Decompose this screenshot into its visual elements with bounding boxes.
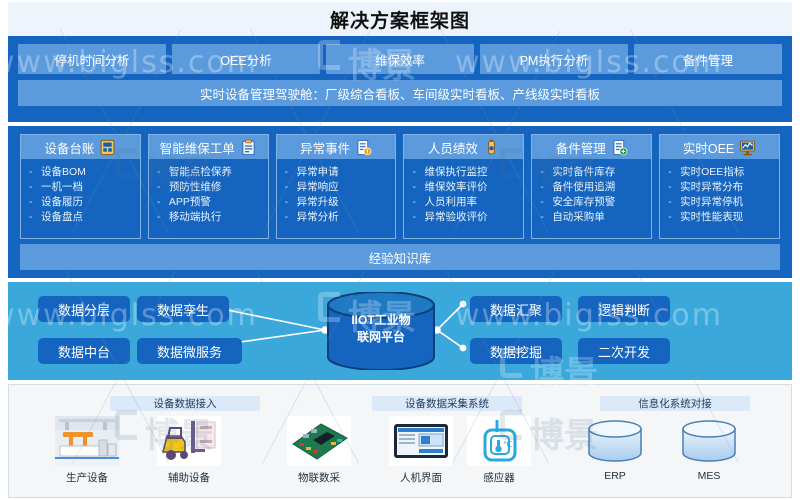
data-capability-button[interactable]: 二次开发	[578, 338, 670, 364]
bullet-dash-icon: -	[412, 180, 424, 194]
module-feature-label: 异常响应	[297, 180, 339, 194]
module-feature-label: 备件使用追溯	[552, 180, 615, 194]
hardware-item[interactable]: 生产设备	[50, 416, 124, 485]
database-cylinder-icon	[677, 416, 741, 466]
module-feature-label: 设备履历	[41, 195, 83, 209]
module-feature-item[interactable]: -设备履历	[29, 195, 136, 209]
bullet-dash-icon: -	[157, 210, 169, 224]
module-feature-item[interactable]: -异常升级	[285, 195, 392, 209]
module-feature-label: 实时备件库存	[552, 165, 615, 179]
module-feature-label: 实时OEE指标	[680, 165, 744, 179]
oil-can-icon	[483, 139, 500, 156]
analytics-nav-button[interactable]: 停机时间分析	[18, 44, 166, 74]
module-feature-item[interactable]: -预防性维修	[157, 180, 264, 194]
bullet-dash-icon: -	[540, 180, 552, 194]
module-feature-list: -异常申请-异常响应-异常升级-异常分析	[277, 159, 396, 238]
bullet-dash-icon: -	[540, 165, 552, 179]
module-feature-label: 维保执行监控	[424, 165, 487, 179]
knowledge-base-bar[interactable]: 经验知识库	[20, 244, 780, 270]
module-feature-list: -实时OEE指标-实时异常分布-实时异常停机-实时性能表现	[660, 159, 779, 238]
bullet-dash-icon: -	[285, 210, 297, 224]
hardware-group-label: 设备数据接入	[110, 396, 260, 411]
database-cylinder-icon	[583, 416, 647, 466]
equipment-ledger-icon	[99, 139, 116, 156]
module-feature-label: 异常申请	[297, 165, 339, 179]
hmi-panel-icon	[389, 416, 453, 466]
module-feature-label: 安全库存预警	[552, 195, 615, 209]
clipboard-icon	[240, 139, 257, 156]
module-card[interactable]: 人员绩效 -维保执行监控-维保效率评价-人员利用率-异常验收评价	[403, 134, 524, 239]
module-card-title: 实时OEE	[683, 138, 734, 157]
hardware-item[interactable]: ERP	[578, 416, 652, 482]
module-feature-item[interactable]: -APP预警	[157, 195, 264, 209]
bullet-dash-icon: -	[412, 165, 424, 179]
modules-band: 设备台账 -设备BOM-一机一档-设备履历-设备盘点智能维保工单 -智能点检保养…	[8, 126, 792, 278]
module-feature-list: -智能点检保养-预防性维修-APP预警-移动端执行	[149, 159, 268, 238]
module-feature-label: 自动采购单	[552, 210, 605, 224]
analytics-nav-button[interactable]: PM执行分析	[480, 44, 628, 74]
bullet-dash-icon: -	[157, 165, 169, 179]
circuit-board-icon	[287, 416, 351, 466]
hardware-item-caption: 生产设备	[66, 470, 108, 485]
module-feature-item[interactable]: -实时性能表现	[668, 210, 775, 224]
module-card[interactable]: 设备台账 -设备BOM-一机一档-设备履历-设备盘点	[20, 134, 141, 239]
module-feature-label: 异常升级	[297, 195, 339, 209]
parts-list-icon	[611, 139, 628, 156]
hardware-item[interactable]: 人机界面	[384, 416, 458, 485]
bullet-dash-icon: -	[540, 210, 552, 224]
module-feature-label: 维保效率评价	[424, 180, 487, 194]
module-feature-label: 智能点检保养	[169, 165, 232, 179]
iiot-platform-label-line2: 联网平台	[325, 329, 437, 346]
module-card-header: 人员绩效	[404, 135, 523, 159]
module-card-header: 设备台账	[21, 135, 140, 159]
module-feature-label: 异常分析	[297, 210, 339, 224]
module-card-title: 人员绩效	[428, 138, 478, 157]
module-feature-item[interactable]: -实时OEE指标	[668, 165, 775, 179]
data-capability-button[interactable]: 数据汇聚	[470, 296, 562, 322]
bullet-dash-icon: -	[285, 195, 297, 209]
data-capability-button[interactable]: 数据微服务	[137, 338, 242, 364]
bullet-dash-icon: -	[412, 195, 424, 209]
bullet-dash-icon: -	[540, 195, 552, 209]
clipboard-icon	[240, 139, 257, 156]
module-card-title: 异常事件	[300, 138, 350, 157]
oil-can-icon	[483, 139, 500, 156]
module-card-title: 设备台账	[44, 138, 94, 157]
bullet-dash-icon: -	[157, 195, 169, 209]
module-feature-list: -实时备件库存-备件使用追溯-安全库存预警-自动采购单	[532, 159, 651, 238]
iiot-platform-label-line1: IIOT工业物	[325, 312, 437, 329]
bullet-dash-icon: -	[668, 165, 680, 179]
hardware-item-caption: 辅助设备	[168, 470, 210, 485]
factory-line-photo-icon	[55, 416, 119, 466]
module-feature-item[interactable]: -备件使用追溯	[540, 180, 647, 194]
bullet-dash-icon: -	[29, 210, 41, 224]
circuit-board-icon	[287, 416, 351, 466]
parts-list-icon	[611, 139, 628, 156]
bullet-dash-icon: -	[285, 180, 297, 194]
iiot-platform-cylinder[interactable]: IIOT工业物 联网平台	[325, 292, 437, 370]
analytics-nav-button[interactable]: 备件管理	[634, 44, 782, 74]
monitor-chart-icon	[739, 139, 756, 156]
module-card-title: 智能维保工单	[160, 138, 235, 157]
module-feature-label: 实时异常停机	[680, 195, 743, 209]
database-cylinder-icon	[583, 416, 647, 466]
bullet-dash-icon: -	[29, 195, 41, 209]
page-title-bar: 解决方案框架图	[8, 2, 792, 36]
module-feature-item[interactable]: -维保效率评价	[412, 180, 519, 194]
bullet-dash-icon: -	[285, 165, 297, 179]
data-capability-button[interactable]: 数据中台	[38, 338, 130, 364]
hardware-item-caption: 感应器	[483, 470, 515, 485]
module-card-header: 实时OEE	[660, 135, 779, 159]
bullet-dash-icon: -	[29, 165, 41, 179]
hardware-item[interactable]: 物联数采	[282, 416, 356, 485]
database-cylinder-icon	[677, 416, 741, 466]
module-card[interactable]: 备件管理 -实时备件库存-备件使用追溯-安全库存预警-自动采购单	[531, 134, 652, 239]
module-card[interactable]: 智能维保工单 -智能点检保养-预防性维修-APP预警-移动端执行	[148, 134, 269, 239]
module-feature-label: 预防性维修	[169, 180, 222, 194]
module-card-header: 异常事件	[277, 135, 396, 159]
module-feature-item[interactable]: -实时备件库存	[540, 165, 647, 179]
forklift-icon	[157, 416, 221, 466]
bullet-dash-icon: -	[157, 180, 169, 194]
hardware-item[interactable]: ℃ 感应器	[462, 416, 536, 485]
data-capability-button[interactable]: 数据孪生	[137, 296, 229, 322]
hardware-group-label: 信息化系统对接	[600, 396, 750, 411]
factory-line-photo-icon	[55, 416, 119, 466]
module-feature-label: APP预警	[169, 195, 211, 209]
analytics-nav-button[interactable]: OEE分析	[172, 44, 320, 74]
module-feature-item[interactable]: -移动端执行	[157, 210, 264, 224]
module-feature-label: 异常验收评价	[424, 210, 487, 224]
temperature-sensor-icon: ℃	[467, 416, 531, 466]
module-feature-label: 设备盘点	[41, 210, 83, 224]
module-feature-item[interactable]: -异常申请	[285, 165, 392, 179]
module-card[interactable]: 异常事件 -异常申请-异常响应-异常升级-异常分析	[276, 134, 397, 239]
bullet-dash-icon: -	[412, 210, 424, 224]
module-card-header: 备件管理	[532, 135, 651, 159]
document-alert-icon	[355, 139, 372, 156]
analytics-band: 停机时间分析OEE分析维保效率PM执行分析备件管理 实时设备管理驾驶舱：厂级综合…	[8, 36, 792, 122]
hardware-item-caption: MES	[698, 470, 721, 482]
module-feature-label: 设备BOM	[41, 165, 86, 179]
module-feature-label: 移动端执行	[169, 210, 222, 224]
solution-framework-diagram: 解决方案框架图 停机时间分析OEE分析维保效率PM执行分析备件管理 实时设备管理…	[0, 0, 800, 500]
hardware-item[interactable]: 辅助设备	[152, 416, 226, 485]
cockpit-banner[interactable]: 实时设备管理驾驶舱：厂级综合看板、车间级实时看板、产线级实时看板	[18, 80, 782, 106]
data-capability-button[interactable]: 数据分层	[38, 296, 130, 322]
module-feature-item[interactable]: -自动采购单	[540, 210, 647, 224]
bullet-dash-icon: -	[668, 210, 680, 224]
hardware-item-caption: 人机界面	[400, 470, 442, 485]
module-feature-item[interactable]: -设备盘点	[29, 210, 136, 224]
hardware-item-caption: 物联数采	[298, 470, 340, 485]
temperature-sensor-icon: ℃	[467, 416, 531, 466]
hardware-item[interactable]: MES	[672, 416, 746, 482]
data-capability-button[interactable]: 逻辑判断	[578, 296, 670, 322]
module-feature-item[interactable]: -安全库存预警	[540, 195, 647, 209]
module-feature-item[interactable]: -人员利用率	[412, 195, 519, 209]
hardware-item-caption: ERP	[604, 470, 626, 482]
module-feature-item[interactable]: -实时异常分布	[668, 180, 775, 194]
iiot-platform-label: IIOT工业物 联网平台	[325, 312, 437, 346]
module-feature-label: 人员利用率	[424, 195, 477, 209]
bullet-dash-icon: -	[29, 180, 41, 194]
module-feature-item[interactable]: -实时异常停机	[668, 195, 775, 209]
module-card-title: 备件管理	[556, 138, 606, 157]
hmi-panel-icon	[389, 416, 453, 466]
module-feature-item[interactable]: -设备BOM	[29, 165, 136, 179]
module-feature-item[interactable]: -异常验收评价	[412, 210, 519, 224]
svg-text:℃: ℃	[503, 440, 512, 449]
module-feature-item[interactable]: -一机一档	[29, 180, 136, 194]
module-feature-item[interactable]: -维保执行监控	[412, 165, 519, 179]
module-feature-item[interactable]: -智能点检保养	[157, 165, 264, 179]
module-card-row: 设备台账 -设备BOM-一机一档-设备履历-设备盘点智能维保工单 -智能点检保养…	[20, 134, 780, 239]
forklift-icon	[157, 416, 221, 466]
monitor-chart-icon	[739, 139, 756, 156]
module-card-header: 智能维保工单	[149, 135, 268, 159]
module-feature-label: 实时异常分布	[680, 180, 743, 194]
module-feature-item[interactable]: -异常响应	[285, 180, 392, 194]
hardware-group-label: 设备数据采集系统	[372, 396, 522, 411]
module-feature-label: 一机一档	[41, 180, 83, 194]
module-feature-list: -设备BOM-一机一档-设备履历-设备盘点	[21, 159, 140, 238]
bullet-dash-icon: -	[668, 180, 680, 194]
module-card[interactable]: 实时OEE -实时OEE指标-实时异常分布-实时异常停机-实时性能表现	[659, 134, 780, 239]
module-feature-item[interactable]: -异常分析	[285, 210, 392, 224]
analytics-nav-button[interactable]: 维保效率	[326, 44, 474, 74]
bullet-dash-icon: -	[668, 195, 680, 209]
document-alert-icon	[355, 139, 372, 156]
analytics-nav-row: 停机时间分析OEE分析维保效率PM执行分析备件管理	[18, 44, 782, 74]
page-title: 解决方案框架图	[330, 6, 470, 33]
module-feature-label: 实时性能表现	[680, 210, 743, 224]
equipment-ledger-icon	[99, 139, 116, 156]
data-capability-button[interactable]: 数据挖掘	[470, 338, 562, 364]
module-feature-list: -维保执行监控-维保效率评价-人员利用率-异常验收评价	[404, 159, 523, 238]
